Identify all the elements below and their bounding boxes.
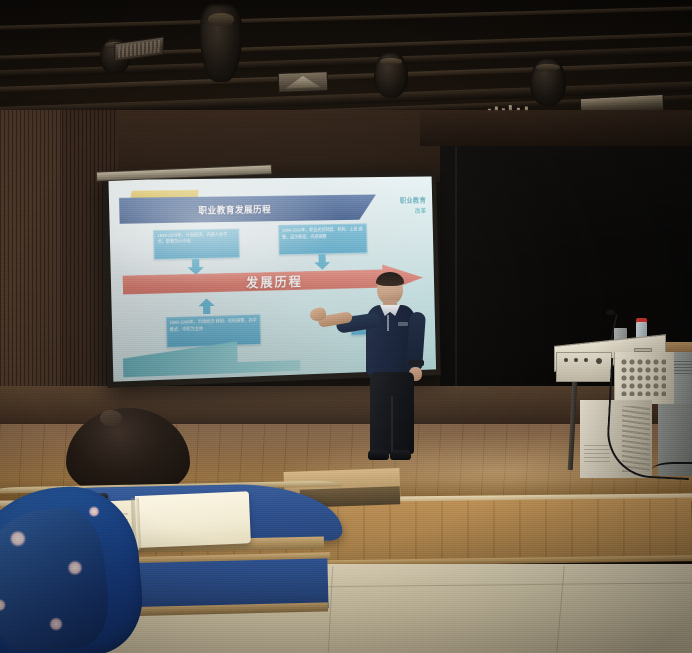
- slide-text-box: 1999-2010年，职业式招制度、机构、上游 调整，层次断层，内部调整: [278, 224, 368, 255]
- lectern-control-panel: [556, 352, 612, 382]
- arrow-up-icon: [198, 298, 215, 314]
- backdrop-seam: [455, 126, 457, 416]
- control-knob[interactable]: [584, 358, 588, 362]
- presenter-placket: [387, 315, 389, 331]
- microphone-icon: [606, 310, 615, 315]
- power-cable: [652, 462, 692, 480]
- photo-scene: 职业教育发展历程 职业教育 改革 1949-1978年，计划经济、内部人办学点，…: [0, 0, 692, 653]
- arrow-down-icon: [314, 254, 330, 270]
- stage-light-icon: [374, 52, 408, 98]
- wristwatch-icon: [408, 360, 424, 366]
- lectern-handle: [634, 348, 652, 352]
- moving-head-light-icon: [200, 4, 242, 82]
- slide-text-box: 1980-1998年，市场经济 转制、机构调整、办学模式、中职为主体: [165, 315, 261, 348]
- arrow-down-icon: [187, 259, 204, 275]
- back-wall-right: [420, 112, 692, 146]
- slide-title: 职业教育发展历程: [198, 202, 271, 216]
- box-light-icon: [278, 71, 329, 93]
- logo-line-1: 职业教育: [400, 196, 426, 206]
- control-knob[interactable]: [596, 358, 602, 364]
- lectern: [548, 300, 692, 480]
- presenter-hair: [376, 272, 404, 286]
- lectern-vent: [584, 444, 610, 462]
- slide-text-box: 1949-1978年，计划经济、内部人办学点，职教为小众化: [153, 228, 239, 260]
- control-knob[interactable]: [574, 358, 578, 362]
- slide-logo-watermark: 职业教育 改革: [322, 188, 426, 225]
- control-knob[interactable]: [564, 358, 568, 362]
- lectern-leg: [568, 382, 578, 470]
- stage-light-icon: [530, 58, 566, 106]
- seated-attendee-head: [66, 408, 190, 496]
- logo-line-2: 改革: [415, 206, 426, 215]
- slide-banner-text: 发展历程: [246, 271, 303, 291]
- hair-part: [100, 410, 122, 426]
- notebook-right-page: [135, 491, 251, 548]
- foreground-audience: [0, 400, 400, 653]
- presenter-shirt-logo: [398, 322, 408, 326]
- lighting-truss: [0, 6, 692, 31]
